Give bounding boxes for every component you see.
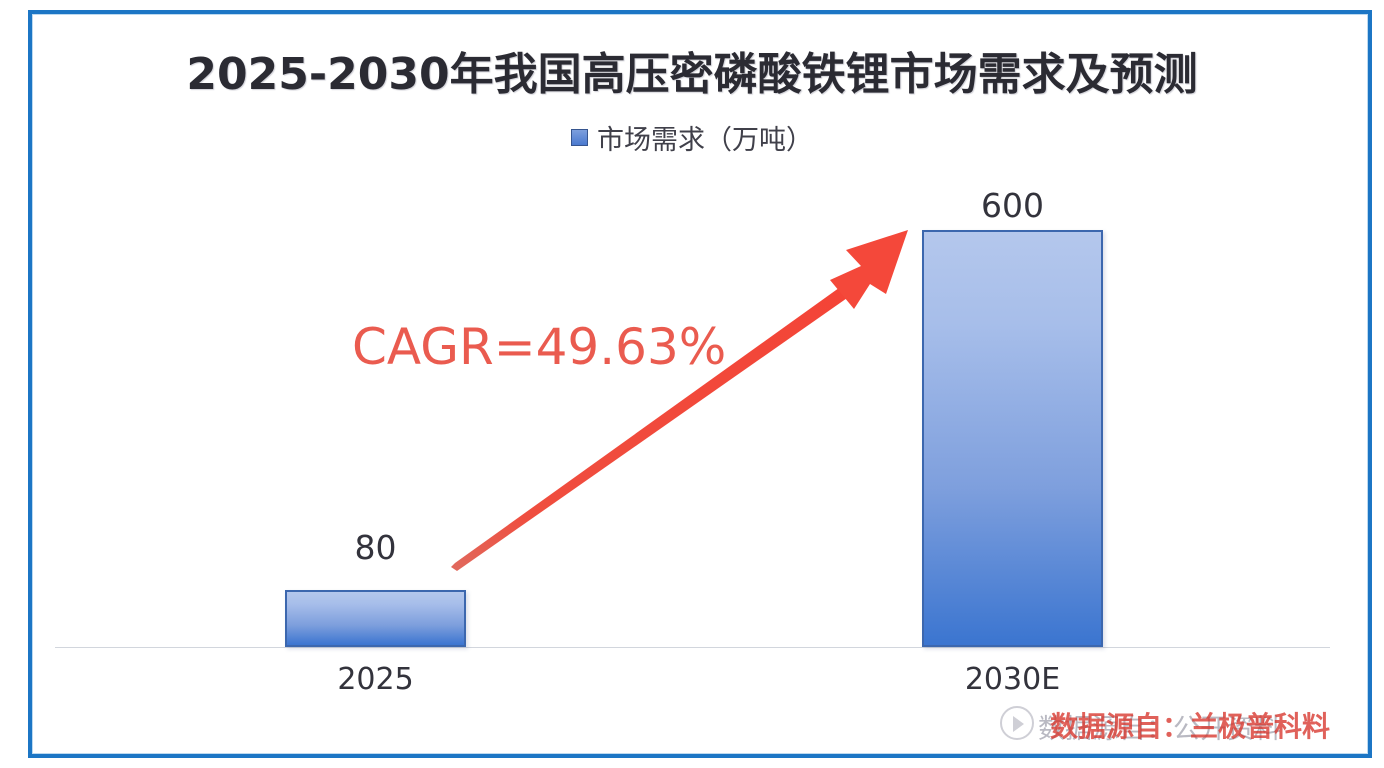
watermark-text-stack: 数据源自：公开资料 数据源自：兰极普科料 — [1038, 705, 1338, 741]
play-circle-icon — [1000, 706, 1034, 740]
watermark: 数据源自：公开资料 数据源自：兰极普科料 — [1000, 703, 1338, 743]
bar-value-2025: 80 — [285, 528, 466, 567]
cagr-annotation-label: CAGR=49.63% — [352, 318, 726, 376]
plot-area: 80 2025 600 2030E CAGR=49.63% — [0, 0, 1384, 768]
x-tick-label-2030e: 2030E — [922, 662, 1103, 697]
growth-arrow-icon — [430, 225, 930, 585]
bar-2030e[interactable] — [922, 230, 1103, 647]
bar-value-2030e: 600 — [922, 186, 1103, 225]
x-tick-label-2025: 2025 — [285, 662, 466, 697]
watermark-overlay-text: 数据源自：兰极普科料 — [1050, 705, 1330, 745]
bar-2025[interactable] — [285, 590, 466, 647]
chart-figure: 2025-2030年我国高压密磷酸铁锂市场需求及预测 市场需求（万吨） 80 2… — [0, 0, 1384, 768]
x-axis-line — [55, 647, 1330, 648]
